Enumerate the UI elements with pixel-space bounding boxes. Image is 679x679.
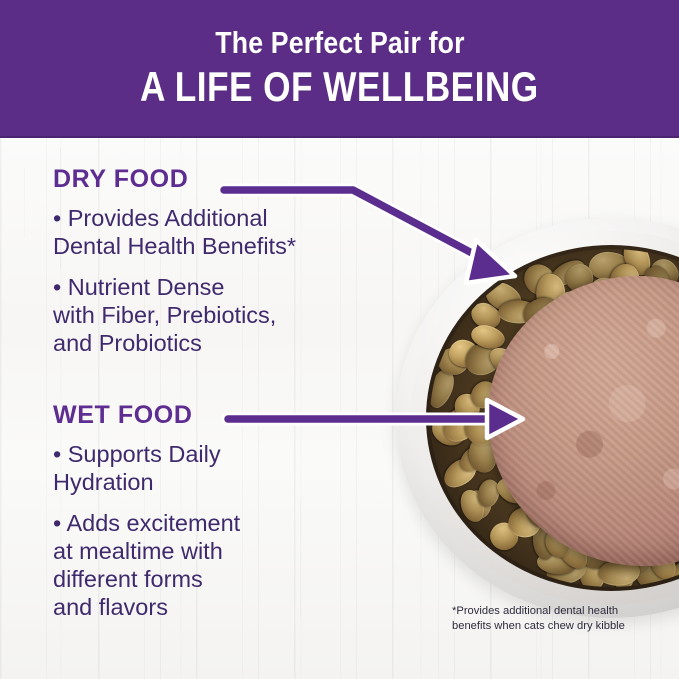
wet-food-section: WET FOOD • Supports Daily Hydration • Ad… <box>53 402 383 635</box>
dry-food-bullet-2-line-1: • Nutrient Dense <box>53 274 225 300</box>
wet-food-heading: WET FOOD <box>53 402 383 430</box>
dry-food-bullet-1-line-2: Dental Health Benefits* <box>53 233 296 259</box>
wet-food-bullet-1-line-1: • Supports Daily <box>53 441 221 467</box>
dry-food-bullet-2: • Nutrient Dense with Fiber, Prebiotics,… <box>53 273 403 358</box>
dry-food-section: DRY FOOD • Provides Additional Dental He… <box>53 166 403 370</box>
footnote-line-1: *Provides additional dental health <box>452 605 618 617</box>
wet-food-bullet-2-line-1: • Adds excitement <box>53 510 240 536</box>
wet-food-bullet-2: • Adds excitement at mealtime with diffe… <box>53 509 383 622</box>
wet-food-bullet-2-line-3: different forms <box>53 566 203 592</box>
promo-graphic: The Perfect Pair for A LIFE OF WELLBEING… <box>0 0 679 679</box>
dry-food-bullet-2-line-2: with Fiber, Prebiotics, <box>53 302 276 328</box>
wet-food-bullet-2-line-2: at mealtime with <box>53 538 223 564</box>
wet-food-bullet-1-line-2: Hydration <box>53 469 154 495</box>
wet-food-bullet-2-line-4: and flavors <box>53 594 168 620</box>
wet-food-bullet-1: • Supports Daily Hydration <box>53 440 383 496</box>
dry-food-bullet-1-line-1: • Provides Additional <box>53 205 268 231</box>
dry-food-bullet-2-line-3: and Probiotics <box>53 330 202 356</box>
dry-food-heading: DRY FOOD <box>53 166 403 194</box>
dry-food-bullet-1: • Provides Additional Dental Health Bene… <box>53 204 403 260</box>
footnote-line-2: benefits when cats chew dry kibble <box>452 620 625 632</box>
footnote: *Provides additional dental health benef… <box>452 604 667 634</box>
